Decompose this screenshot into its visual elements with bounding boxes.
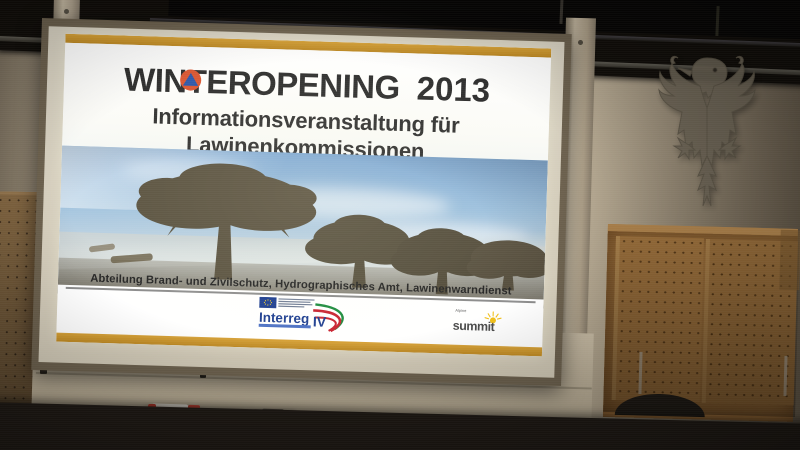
summit-logo: Alpine summit [449,307,522,337]
slide-title-year: 2013 [416,69,491,109]
presentation-slide: WINTEROPENING2013 Informationsveranstalt… [56,34,551,357]
screen-mount-bracket-left [64,9,69,14]
svg-text:summit: summit [453,319,496,334]
projection-screen: WINTEROPENING2013 Informationsveranstalt… [31,18,572,386]
interreg-iv-logo: Interreg IV [257,297,354,334]
screen-mount-bracket-right [578,40,583,45]
lecture-room-photo: WINTEROPENING2013 Informationsveranstalt… [0,0,800,450]
svg-text:Alpine: Alpine [455,308,467,313]
triangle-in-circle-icon [179,68,203,92]
tyrolean-eagle-emblem [648,38,766,218]
page-title: WINTEROPENING [123,61,400,107]
cabinet-shading [603,224,800,417]
svg-text:Interreg: Interreg [259,310,310,327]
svg-text:IV: IV [313,313,327,329]
